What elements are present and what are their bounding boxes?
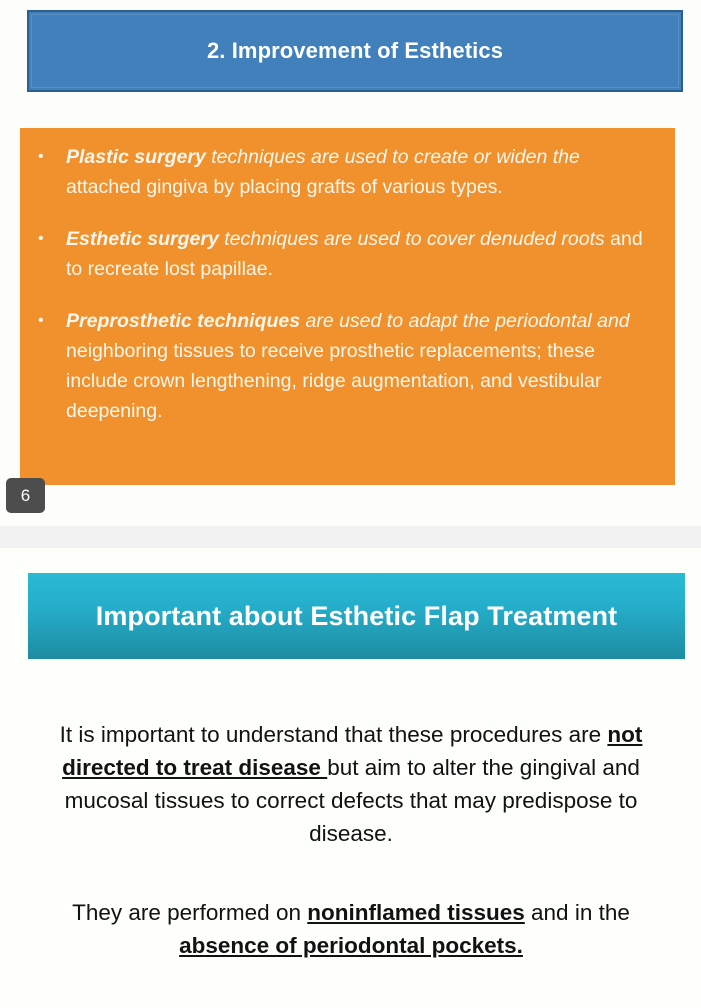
slide-improvement-of-esthetics: 2. Improvement of Esthetics • Plastic su… [0, 0, 701, 528]
slide-separator [0, 526, 701, 548]
bullet-item-text: Plastic surgery techniques are used to c… [66, 142, 655, 202]
bullet-item-esthetic-surgery: • Esthetic surgery techniques are used t… [38, 224, 655, 284]
page-number-badge: 6 [6, 478, 45, 513]
paragraph-procedures-not-directed: It is important to understand that these… [26, 718, 676, 850]
paragraph1-part1: It is important to understand that these… [60, 722, 608, 747]
bullet-italic-run: are used to adapt the periodontal and [305, 310, 629, 332]
bullet-item-plastic-surgery: • Plastic surgery techniques are used to… [38, 142, 655, 202]
bullet-lead-emphasis: Plastic surgery [66, 146, 211, 168]
bullet-dot-icon: • [38, 142, 66, 172]
slide1-content-panel: • Plastic surgery techniques are used to… [20, 128, 675, 485]
bullet-dot-icon: • [38, 224, 66, 254]
slide2-body: It is important to understand that these… [26, 718, 676, 962]
slide-important-about-esthetic-flap-treatment: Important about Esthetic Flap Treatment … [0, 548, 701, 1008]
bullet-lead-emphasis: Preprosthetic techniques [66, 310, 305, 332]
bullet-item-preprosthetic-techniques: • Preprosthetic techniques are used to a… [38, 306, 655, 426]
bullet-item-text: Preprosthetic techniques are used to ada… [66, 306, 655, 426]
paragraph2-emphasis-two: absence of periodontal pockets. [179, 933, 523, 958]
bullet-italic-run: techniques are used to cover denuded roo… [224, 228, 610, 250]
bullet-lead-emphasis: Esthetic surgery [66, 228, 224, 250]
bullet-italic-run: techniques are used to create or widen t… [211, 146, 580, 168]
paragraph2-part2: and in the [525, 900, 630, 925]
slide2-title-bar: Important about Esthetic Flap Treatment [28, 573, 685, 659]
bullet-regular-run: neighboring tissues to receive prostheti… [66, 340, 602, 422]
slide1-title: 2. Improvement of Esthetics [207, 38, 503, 64]
bullet-dot-icon: • [38, 306, 66, 336]
bullet-regular-run: attached gingiva by placing grafts of va… [66, 176, 503, 198]
slide2-title: Important about Esthetic Flap Treatment [96, 601, 617, 632]
paragraph2-emphasis-one: noninflamed tissues [307, 900, 525, 925]
bullet-item-text: Esthetic surgery techniques are used to … [66, 224, 655, 284]
paragraph-noninflamed-tissues: They are performed on noninflamed tissue… [26, 896, 676, 962]
paragraph2-part1: They are performed on [72, 900, 307, 925]
slide1-title-bar: 2. Improvement of Esthetics [27, 10, 683, 92]
slide-deck: 2. Improvement of Esthetics • Plastic su… [0, 0, 701, 528]
